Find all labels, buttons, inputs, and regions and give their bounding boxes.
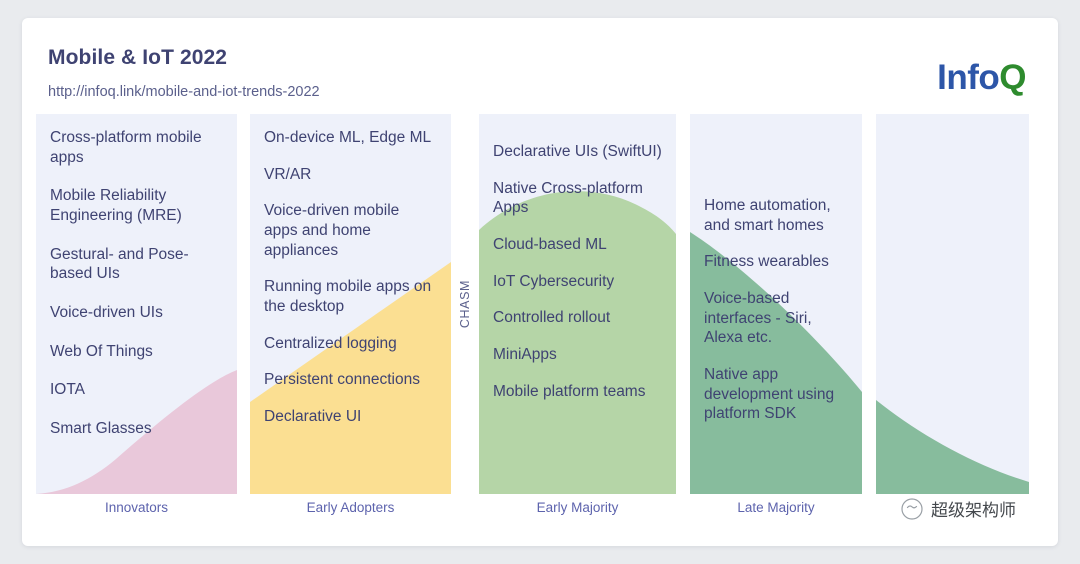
early-majority-items: Declarative UIs (SwiftUI) Native Cross-p… [479, 114, 676, 494]
page-title: Mobile & IoT 2022 [48, 46, 227, 70]
early-adopters-items: On-device ML, Edge ML VR/AR Voice-driven… [250, 114, 451, 494]
trend-item: Fitness wearables [704, 252, 848, 272]
trend-item: Persistent connections [264, 370, 437, 390]
screenshot-root: Mobile & IoT 2022 http://infoq.link/mobi… [0, 0, 1080, 564]
trend-item: Centralized logging [264, 334, 437, 354]
trend-item: Controlled rollout [493, 308, 662, 328]
trend-item: Declarative UIs (SwiftUI) [493, 142, 662, 162]
trend-item: IoT Cybersecurity [493, 272, 662, 292]
watermark-text: 超级架构师 [931, 496, 1016, 521]
innovators-items: Cross-platform mobile apps Mobile Reliab… [36, 114, 237, 494]
legend-early-majority: Early Majority [479, 500, 676, 515]
trend-item: IOTA [50, 380, 223, 400]
trend-item: Mobile platform teams [493, 382, 662, 402]
source-url-link[interactable]: http://infoq.link/mobile-and-iot-trends-… [48, 84, 320, 100]
trend-item: Voice-based interfaces - Siri, Alexa etc… [704, 289, 848, 348]
chasm-label: CHASM [451, 114, 479, 494]
trend-item: Home automation, and smart homes [704, 196, 848, 235]
late-majority-items: Home automation, and smart homes Fitness… [690, 114, 862, 494]
trend-item: Mobile Reliability Engineering (MRE) [50, 186, 223, 225]
trend-item: Smart Glasses [50, 419, 223, 439]
chat-bubble-icon [900, 497, 924, 521]
trend-item: Gestural- and Pose-based UIs [50, 245, 223, 284]
legend-innovators: Innovators [36, 500, 237, 515]
watermark: 超级架构师 [900, 496, 1016, 521]
infoq-logo: InfoQ [937, 60, 1026, 95]
trend-item: Native Cross-platform Apps [493, 179, 662, 218]
column-late-majority: Home automation, and smart homes Fitness… [690, 114, 862, 494]
trend-item: Web Of Things [50, 342, 223, 362]
adoption-columns: Cross-platform mobile apps Mobile Reliab… [22, 114, 1058, 494]
trend-item: MiniApps [493, 345, 662, 365]
trend-item: Cross-platform mobile apps [50, 128, 223, 167]
trend-item: Running mobile apps on the desktop [264, 277, 437, 316]
column-innovators: Cross-platform mobile apps Mobile Reliab… [36, 114, 237, 494]
trend-item: Voice-driven UIs [50, 303, 223, 323]
trends-card: Mobile & IoT 2022 http://infoq.link/mobi… [22, 18, 1058, 546]
trend-item: Cloud-based ML [493, 235, 662, 255]
legend-late-majority: Late Majority [690, 500, 862, 515]
legend-early-adopters: Early Adopters [250, 500, 451, 515]
infoq-logo-q: Q [999, 58, 1026, 97]
trend-item: Native app development using platform SD… [704, 365, 848, 424]
trend-item: On-device ML, Edge ML [264, 128, 437, 148]
column-early-majority: Declarative UIs (SwiftUI) Native Cross-p… [479, 114, 676, 494]
trend-item: Voice-driven mobile apps and home applia… [264, 201, 437, 260]
infoq-logo-info: Info [937, 58, 999, 97]
laggards-items [876, 114, 1029, 494]
card-header: Mobile & IoT 2022 http://infoq.link/mobi… [22, 18, 1058, 114]
column-early-adopters: On-device ML, Edge ML VR/AR Voice-driven… [250, 114, 451, 494]
chasm-label-text: CHASM [458, 280, 472, 328]
column-laggards [876, 114, 1029, 494]
trend-item: Declarative UI [264, 407, 437, 427]
trend-item: VR/AR [264, 165, 437, 185]
